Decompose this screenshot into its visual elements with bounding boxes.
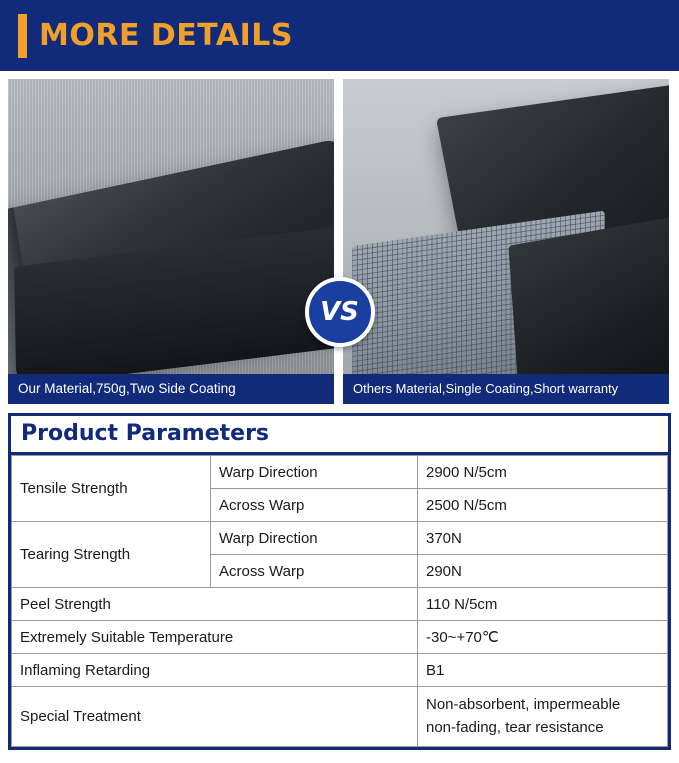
param-label-suitable-temperature: Extremely Suitable Temperature [12, 621, 418, 654]
vs-badge: VS [305, 277, 375, 347]
our-material-image [8, 79, 334, 374]
product-parameters-panel: Product Parameters Tensile Strength Warp… [8, 413, 671, 750]
comparison-card-right: Others Material,Single Coating,Short war… [343, 79, 669, 404]
param-value-peel-strength: 110 N/5cm [418, 588, 668, 621]
header-accent-bar [18, 14, 27, 58]
table-row: Special Treatment Non-absorbent, imperme… [12, 687, 668, 747]
table-row: Extremely Suitable Temperature -30~+70℃ [12, 621, 668, 654]
param-sub-warp-direction-tensile: Warp Direction [211, 456, 418, 489]
param-label-tearing-strength: Tearing Strength [12, 522, 211, 588]
others-material-image [343, 79, 669, 374]
product-parameters-table: Tensile Strength Warp Direction 2900 N/5… [11, 455, 668, 747]
param-sub-across-warp-tearing: Across Warp [211, 555, 418, 588]
param-value-tearing-across: 290N [418, 555, 668, 588]
param-label-special-treatment: Special Treatment [12, 687, 418, 747]
table-row: Peel Strength 110 N/5cm [12, 588, 668, 621]
param-label-tensile-strength: Tensile Strength [12, 456, 211, 522]
param-sub-warp-direction-tearing: Warp Direction [211, 522, 418, 555]
comparison-card-left: Our Material,750g,Two Side Coating [8, 79, 334, 404]
param-value-tensile-warp: 2900 N/5cm [418, 456, 668, 489]
param-value-tensile-across: 2500 N/5cm [418, 489, 668, 522]
param-sub-across-warp-tensile: Across Warp [211, 489, 418, 522]
comparison-section: Our Material,750g,Two Side Coating Other… [0, 71, 679, 404]
special-treatment-line-1: Non-absorbent, impermeable [426, 693, 659, 716]
table-row: Tearing Strength Warp Direction 370N [12, 522, 668, 555]
table-row: Inflaming Retarding B1 [12, 654, 668, 687]
param-value-suitable-temperature: -30~+70℃ [418, 621, 668, 654]
param-label-inflaming-retarding: Inflaming Retarding [12, 654, 418, 687]
caption-our-material: Our Material,750g,Two Side Coating [8, 374, 334, 404]
param-value-tearing-warp: 370N [418, 522, 668, 555]
caption-others-material: Others Material,Single Coating,Short war… [343, 374, 669, 404]
param-value-special-treatment: Non-absorbent, impermeable non-fading, t… [418, 687, 668, 747]
page-title: MORE DETAILS [39, 18, 293, 53]
special-treatment-line-2: non-fading, tear resistance [426, 716, 659, 739]
param-value-inflaming-retarding: B1 [418, 654, 668, 687]
product-detail-page: MORE DETAILS Our Material,750g,Two Side … [0, 0, 679, 763]
header-banner: MORE DETAILS [0, 0, 679, 71]
table-row: Tensile Strength Warp Direction 2900 N/5… [12, 456, 668, 489]
product-parameters-title: Product Parameters [11, 416, 668, 455]
param-label-peel-strength: Peel Strength [12, 588, 418, 621]
